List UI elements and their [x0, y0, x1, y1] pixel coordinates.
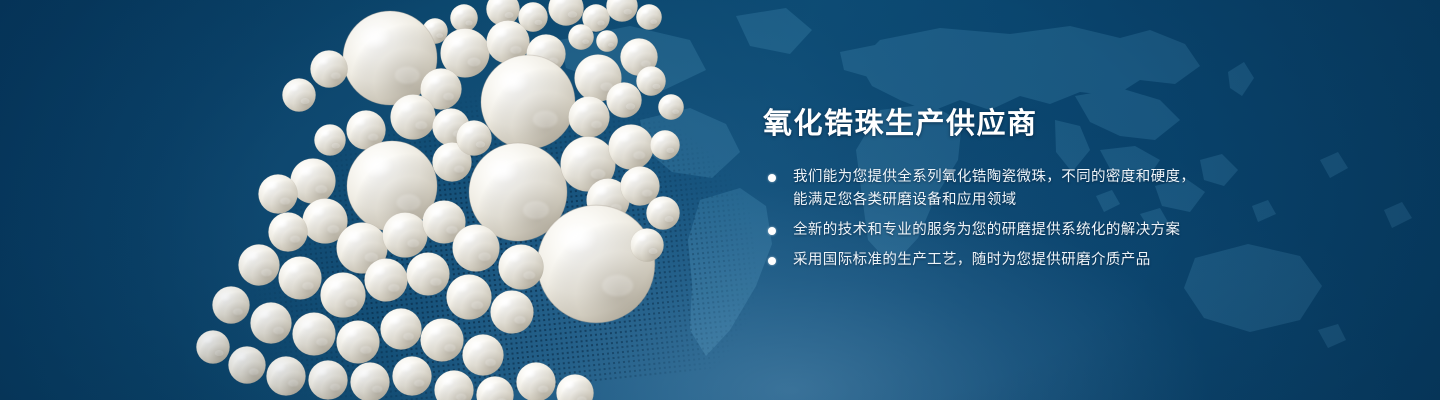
bullet-dot-icon — [768, 227, 776, 235]
list-item: 我们能为您提供全系列氧化锆陶瓷微珠，不同的密度和硬度， 能满足您各类研磨设备和应… — [763, 166, 1323, 212]
feature-text: 采用国际标准的生产工艺，随时为您提供研磨介质产品 — [793, 249, 1323, 272]
banner-headline: 氧化锆珠生产供应商 — [763, 104, 1323, 144]
feature-line-1: 全新的技术和专业的服务为您的研磨提供系统化的解决方案 — [793, 222, 1180, 238]
zirconia-beads-photo — [150, 0, 710, 400]
bullet-dot-icon — [768, 174, 776, 182]
feature-line-2: 能满足您各类研磨设备和应用领域 — [793, 189, 1323, 212]
banner-copy: 氧化锆珠生产供应商 我们能为您提供全系列氧化锆陶瓷微珠，不同的密度和硬度， 能满… — [763, 104, 1323, 272]
feature-text: 全新的技术和专业的服务为您的研磨提供系统化的解决方案 — [793, 219, 1323, 242]
list-item: 采用国际标准的生产工艺，随时为您提供研磨介质产品 — [763, 249, 1323, 272]
feature-text: 我们能为您提供全系列氧化锆陶瓷微珠，不同的密度和硬度， 能满足您各类研磨设备和应… — [793, 166, 1323, 212]
feature-list: 我们能为您提供全系列氧化锆陶瓷微珠，不同的密度和硬度， 能满足您各类研磨设备和应… — [763, 166, 1323, 272]
feature-line-1: 我们能为您提供全系列氧化锆陶瓷微珠，不同的密度和硬度， — [793, 169, 1195, 185]
hero-banner: 氧化锆珠生产供应商 我们能为您提供全系列氧化锆陶瓷微珠，不同的密度和硬度， 能满… — [0, 0, 1440, 400]
bullet-dot-icon — [768, 257, 776, 265]
list-item: 全新的技术和专业的服务为您的研磨提供系统化的解决方案 — [763, 219, 1323, 242]
feature-line-1: 采用国际标准的生产工艺，随时为您提供研磨介质产品 — [793, 252, 1151, 268]
